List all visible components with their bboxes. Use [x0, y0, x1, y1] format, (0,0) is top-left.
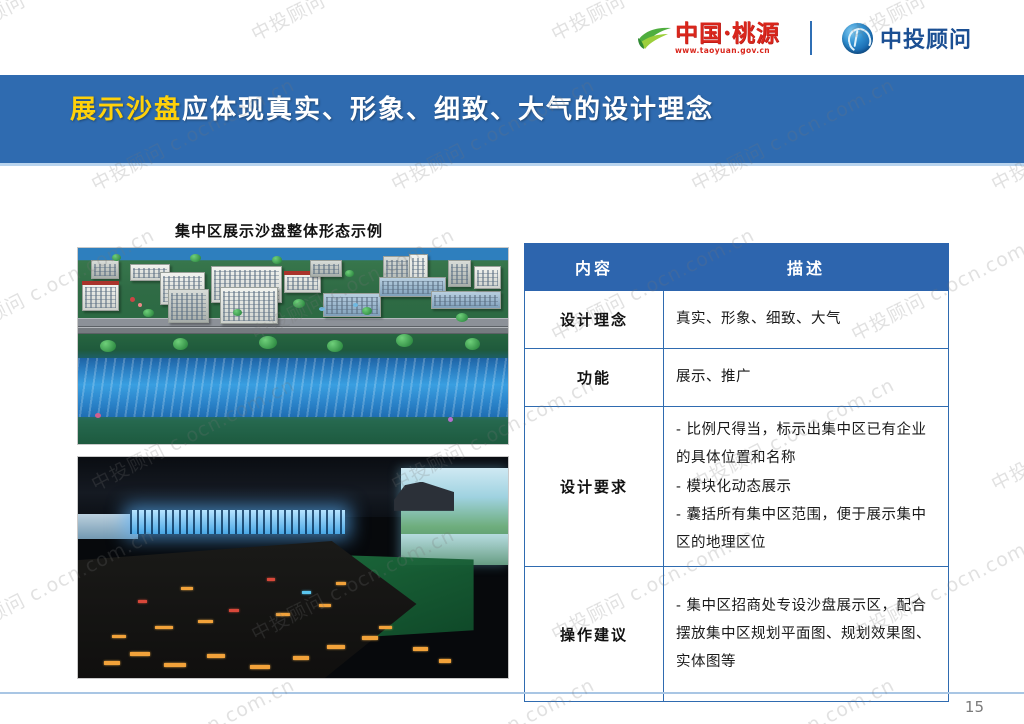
spec-table-header-description: 描述 — [664, 244, 949, 291]
spec-table-header-row: 内容 描述 — [525, 244, 949, 291]
title-bar: 展示沙盘应体现真实、形象、细致、大气的设计理念 — [0, 75, 1024, 163]
desc-line: 真实、形象、细致、大气 — [676, 305, 936, 333]
row-label-function: 功能 — [525, 349, 664, 407]
row-desc-design-requirements: - 比例尺得当，标示出集中区已有企业的具体位置和名称 - 模块化动态展示 - 囊… — [664, 407, 949, 567]
footer-divider — [0, 692, 1024, 694]
zhongtou-logo-name: 中投顾问 — [880, 22, 972, 54]
row-desc-operation-suggestion: - 集中区招商处专设沙盘展示区，配合摆放集中区规划平面图、规划效果图、实体图等 — [664, 567, 949, 702]
logo-divider — [810, 21, 812, 55]
row-desc-design-concept: 真实、形象、细致、大气 — [664, 291, 949, 349]
photo-exhibition-hall-image — [78, 457, 508, 678]
logo-group: 中国·桃源 www.taoyuan.gov.cn 中投顾问 — [638, 18, 972, 58]
taoyuan-logo-name: 中国·桃源 — [675, 22, 780, 45]
photo-exhibition-hall-sand-table — [77, 456, 509, 679]
taoyuan-logo-url: www.taoyuan.gov.cn — [675, 47, 780, 55]
figure-caption: 集中区展示沙盘整体形态示例 — [175, 220, 383, 241]
page-number: 15 — [965, 698, 984, 716]
logo-strip: 中国·桃源 www.taoyuan.gov.cn 中投顾问 — [0, 0, 1024, 75]
taoyuan-logo-text: 中国·桃源 www.taoyuan.gov.cn — [675, 22, 780, 55]
spec-table-header-content: 内容 — [525, 244, 664, 291]
page-title: 展示沙盘应体现真实、形象、细致、大气的设计理念 — [70, 89, 714, 126]
row-label-design-concept: 设计理念 — [525, 291, 664, 349]
china-taoyuan-logo: 中国·桃源 www.taoyuan.gov.cn — [638, 18, 780, 58]
zhongtou-consulting-logo: 中投顾问 — [842, 22, 972, 54]
table-row: 功能 展示、推广 — [525, 349, 949, 407]
desc-line: 展示、推广 — [676, 363, 936, 391]
slide-root: 中国·桃源 www.taoyuan.gov.cn 中投顾问 展示沙盘应体现真实、… — [0, 0, 1024, 724]
row-desc-function: 展示、推广 — [664, 349, 949, 407]
photo-sand-table-daylight — [77, 247, 509, 445]
page-title-highlight: 展示沙盘 — [70, 95, 182, 125]
table-row: 设计理念 真实、形象、细致、大气 — [525, 291, 949, 349]
watermark-text: 中投顾问 c.ocn.com.cn — [986, 370, 1024, 496]
table-row: 设计要求 - 比例尺得当，标示出集中区已有企业的具体位置和名称 - 模块化动态展… — [525, 407, 949, 567]
page-title-rest: 应体现真实、形象、细致、大气的设计理念 — [182, 95, 714, 125]
taoyuan-swoosh-icon — [638, 25, 672, 51]
row-label-design-requirements: 设计要求 — [525, 407, 664, 567]
photo-sand-table-daylight-image — [78, 248, 508, 444]
desc-line: - 囊括所有集中区范围，便于展示集中区的地理区位 — [676, 501, 936, 558]
row-label-operation-suggestion: 操作建议 — [525, 567, 664, 702]
watermark-text: 中投顾问 c.ocn.com.cn — [986, 670, 1024, 724]
spec-table: 内容 描述 设计理念 真实、形象、细致、大气 功能 展示、推广 设计要求 - 比… — [524, 243, 949, 702]
table-row: 操作建议 - 集中区招商处专设沙盘展示区，配合摆放集中区规划平面图、规划效果图、… — [525, 567, 949, 702]
title-bar-underline — [0, 163, 1024, 166]
desc-line: - 集中区招商处专设沙盘展示区，配合摆放集中区规划平面图、规划效果图、实体图等 — [676, 592, 936, 677]
zhongtou-emblem-icon — [842, 23, 873, 54]
desc-line: - 模块化动态展示 — [676, 473, 936, 501]
desc-line: - 比例尺得当，标示出集中区已有企业的具体位置和名称 — [676, 416, 936, 473]
